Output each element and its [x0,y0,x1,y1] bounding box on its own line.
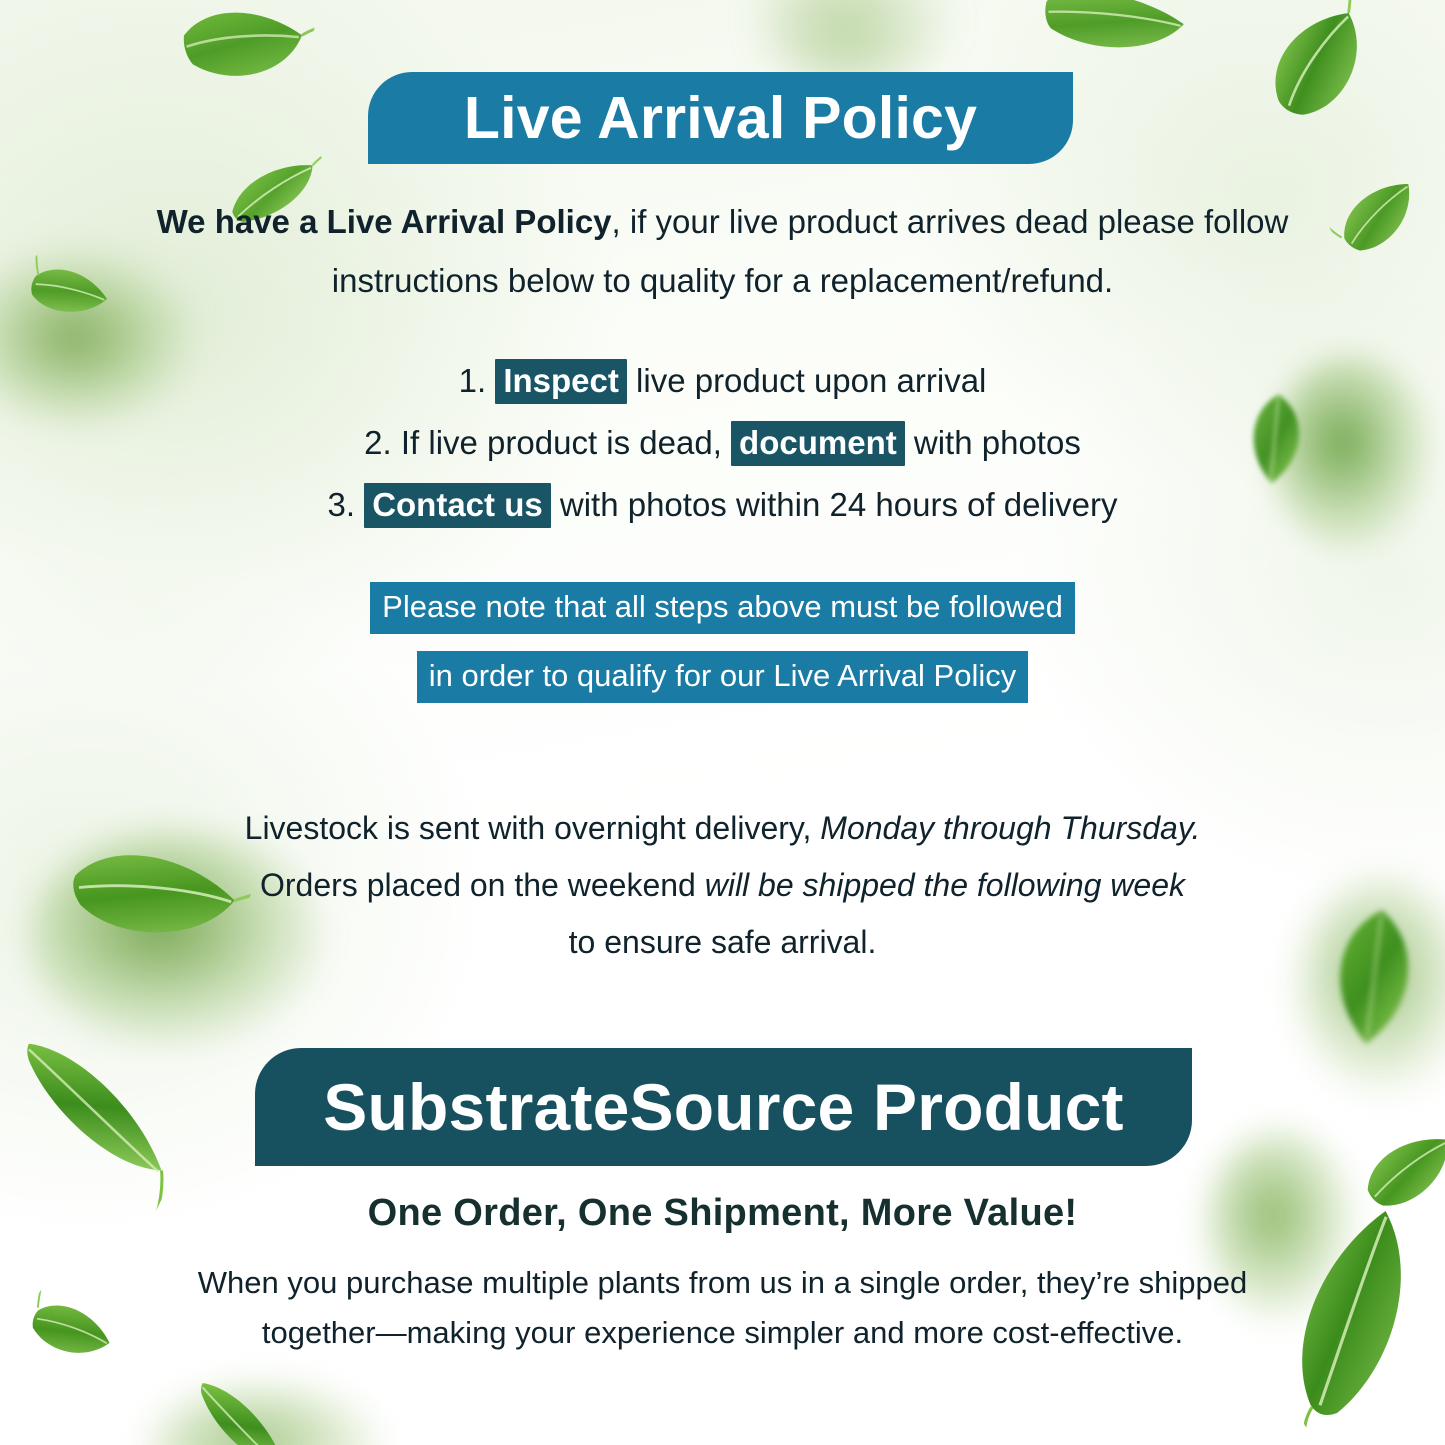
policy-step-text: with photos within 24 hours of delivery [560,486,1118,523]
bokeh-blur-bottom-left [150,1385,380,1445]
livestock-line-2-italic: will be shipped the following week [705,867,1185,903]
policy-step-item: 2. If live product is dead, document wit… [150,412,1295,474]
leaf-decoration-left-bottom-small [6,1270,133,1394]
policy-intro-paragraph: We have a Live Arrival Policy, if your l… [150,192,1295,310]
leaf-decoration-right-upper-small [1317,156,1444,275]
policy-step-number: 3. [327,486,355,523]
livestock-line-2: Orders placed on the weekend will be shi… [150,857,1295,914]
product-sub-heading: One Order, One Shipment, More Value! [150,1192,1295,1235]
livestock-shipping-paragraph: Livestock is sent with overnight deliver… [150,800,1295,971]
leaf-decoration-bottom-center [172,1362,317,1445]
policy-step-number: 2. [364,424,392,461]
policy-step-highlight-document: document [731,421,905,466]
leaf-decoration-right-lower-mid [1305,897,1442,1057]
leaf-decoration-upper-right [1235,0,1405,148]
policy-step-item: 1. Inspect live product upon arrival [150,350,1295,412]
policy-step-highlight-contact-us[interactable]: Contact us [364,483,551,528]
leaf-decoration-left-lower-long [0,1015,211,1215]
policy-step-item: 3. Contact us with photos within 24 hour… [150,474,1295,536]
product-body-line-2: together—making your experience simpler … [150,1308,1295,1358]
policy-steps-list: 1. Inspect live product upon arrival 2. … [150,350,1295,536]
policy-step-text: live product upon arrival [636,362,986,399]
leaf-decoration-top-center [167,0,319,114]
substratesource-product-banner-title: SubstrateSource Product [323,1069,1123,1145]
substratesource-product-banner: SubstrateSource Product [255,1048,1192,1166]
policy-intro-bold: We have a Live Arrival Policy [157,203,612,240]
leaf-decoration-right-edge [1343,1109,1445,1233]
live-arrival-policy-page: Live Arrival Policy We have a Live Arriv… [0,0,1445,1445]
live-arrival-policy-banner: Live Arrival Policy [368,72,1073,164]
livestock-line-1-italic: Monday through Thursday. [820,810,1200,846]
livestock-line-1-plain: Livestock is sent with overnight deliver… [245,810,821,846]
policy-step-highlight-inspect: Inspect [495,359,627,404]
product-body-line-1: When you purchase multiple plants from u… [150,1258,1295,1308]
policy-step-text-before: If live product is dead, [401,424,722,461]
product-body-paragraph: When you purchase multiple plants from u… [150,1258,1295,1358]
livestock-line-3: to ensure safe arrival. [150,914,1295,971]
policy-step-text: with photos [914,424,1081,461]
policy-step-number: 1. [459,362,487,399]
policy-note-block: Please note that all steps above must be… [150,582,1295,720]
policy-note-line-2: in order to qualify for our Live Arrival… [417,651,1029,703]
bokeh-blur-right-lower [1300,880,1445,1090]
live-arrival-policy-banner-title: Live Arrival Policy [464,84,977,152]
livestock-line-2-plain: Orders placed on the weekend [260,867,705,903]
policy-note-line-1: Please note that all steps above must be… [370,582,1075,634]
livestock-line-1: Livestock is sent with overnight deliver… [150,800,1295,857]
leaf-decoration-left-small [9,238,127,350]
